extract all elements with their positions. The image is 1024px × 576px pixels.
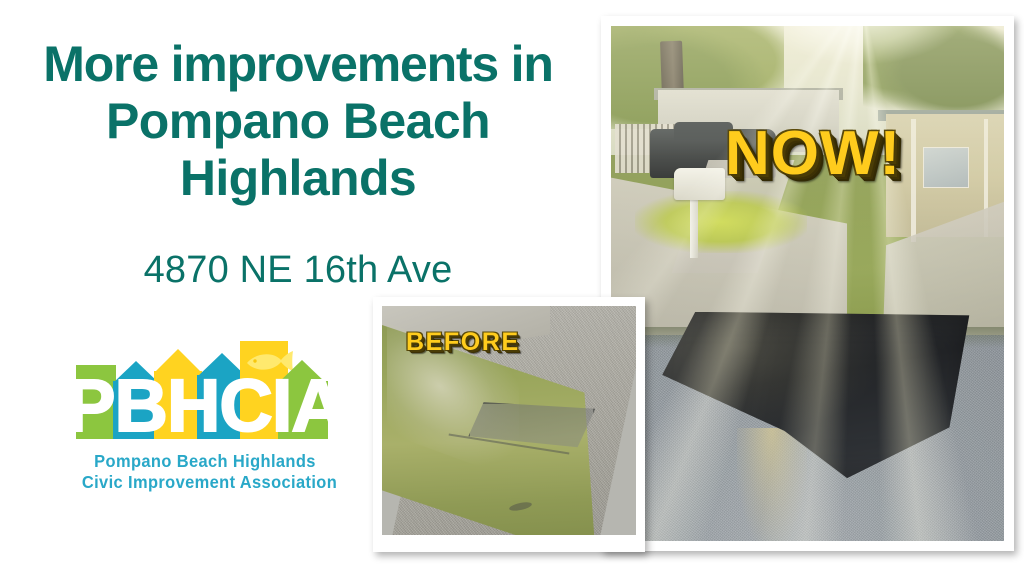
now-lawn-highlight [635,191,808,253]
page-title: More improvements in Pompano Beach Highl… [8,36,588,207]
address-subtitle: 4870 NE 16th Ave [8,249,588,292]
poster-canvas: More improvements in Pompano Beach Highl… [0,0,1024,576]
now-carport-post-1 [911,119,915,243]
before-scene [382,306,636,535]
photo-now-frame: NOW! [601,16,1014,551]
headline-line-2: Pompano Beach [8,93,588,150]
now-mailbox [674,168,725,200]
photo-now-image: NOW! [611,26,1004,541]
now-tree-right [863,26,1004,119]
now-mailbox-post [690,196,699,258]
now-scene [611,26,1004,541]
now-truck-cab [674,122,733,141]
logo-tagline: Pompano Beach Highlands Civic Improvemen… [82,451,328,492]
logo-tagline-line-1: Pompano Beach Highlands [82,451,328,472]
headline-line-1: More improvements in [8,36,588,93]
pbhcia-logo: PBHCIA Pompano Beach Highlands Civic Imp… [74,341,336,499]
now-road-stain [737,428,808,541]
logo-mark-icon: PBHCIA [74,341,336,451]
logo-acronym-text: PBHCIA [74,364,336,447]
logo-tagline-line-2: Civic Improvement Association [82,472,328,493]
photo-before-image: BEFORE [382,306,636,535]
now-house-window [923,147,968,188]
photo-before-frame: BEFORE [373,297,645,552]
headline-line-3: Highlands [8,150,588,207]
